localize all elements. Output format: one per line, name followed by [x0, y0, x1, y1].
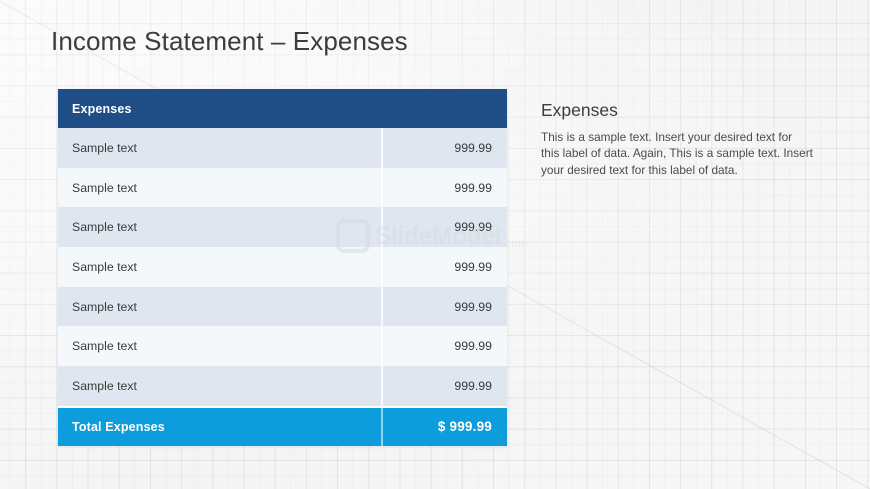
row-label: Sample text: [58, 181, 381, 195]
table-row[interactable]: Sample text 999.99: [58, 326, 507, 366]
column-divider: [381, 128, 383, 168]
total-value: $ 999.99: [381, 419, 507, 434]
row-label: Sample text: [58, 339, 381, 353]
row-label: Sample text: [58, 260, 381, 274]
expenses-table: Expenses Sample text 999.99 Sample text …: [58, 89, 507, 446]
column-divider: [381, 408, 383, 446]
column-divider: [381, 207, 383, 247]
table-row[interactable]: Sample text 999.99: [58, 207, 507, 247]
table-header-row: Expenses: [58, 89, 507, 128]
side-panel-body: This is a sample text. Insert your desir…: [541, 129, 813, 178]
table-row[interactable]: Sample text 999.99: [58, 366, 507, 406]
column-divider: [381, 366, 383, 406]
row-value: 999.99: [381, 300, 507, 314]
table-row[interactable]: Sample text 999.99: [58, 287, 507, 327]
table-row[interactable]: Sample text 999.99: [58, 168, 507, 208]
column-divider: [381, 168, 383, 208]
table-header-label: Expenses: [58, 102, 132, 116]
row-label: Sample text: [58, 379, 381, 393]
table-row[interactable]: Sample text 999.99: [58, 128, 507, 168]
row-value: 999.99: [381, 141, 507, 155]
side-panel-heading: Expenses: [541, 100, 813, 121]
side-description-panel: Expenses This is a sample text. Insert y…: [541, 100, 813, 178]
total-label: Total Expenses: [58, 420, 381, 434]
row-value: 999.99: [381, 260, 507, 274]
table-total-row[interactable]: Total Expenses $ 999.99: [58, 406, 507, 446]
page-title: Income Statement – Expenses: [51, 26, 408, 57]
column-divider: [381, 287, 383, 327]
row-label: Sample text: [58, 300, 381, 314]
column-divider: [381, 326, 383, 366]
row-value: 999.99: [381, 181, 507, 195]
row-label: Sample text: [58, 141, 381, 155]
row-value: 999.99: [381, 379, 507, 393]
column-divider: [381, 247, 383, 287]
row-label: Sample text: [58, 220, 381, 234]
table-row[interactable]: Sample text 999.99: [58, 247, 507, 287]
row-value: 999.99: [381, 220, 507, 234]
slide-canvas: Income Statement – Expenses Expenses Sam…: [0, 0, 870, 489]
row-value: 999.99: [381, 339, 507, 353]
